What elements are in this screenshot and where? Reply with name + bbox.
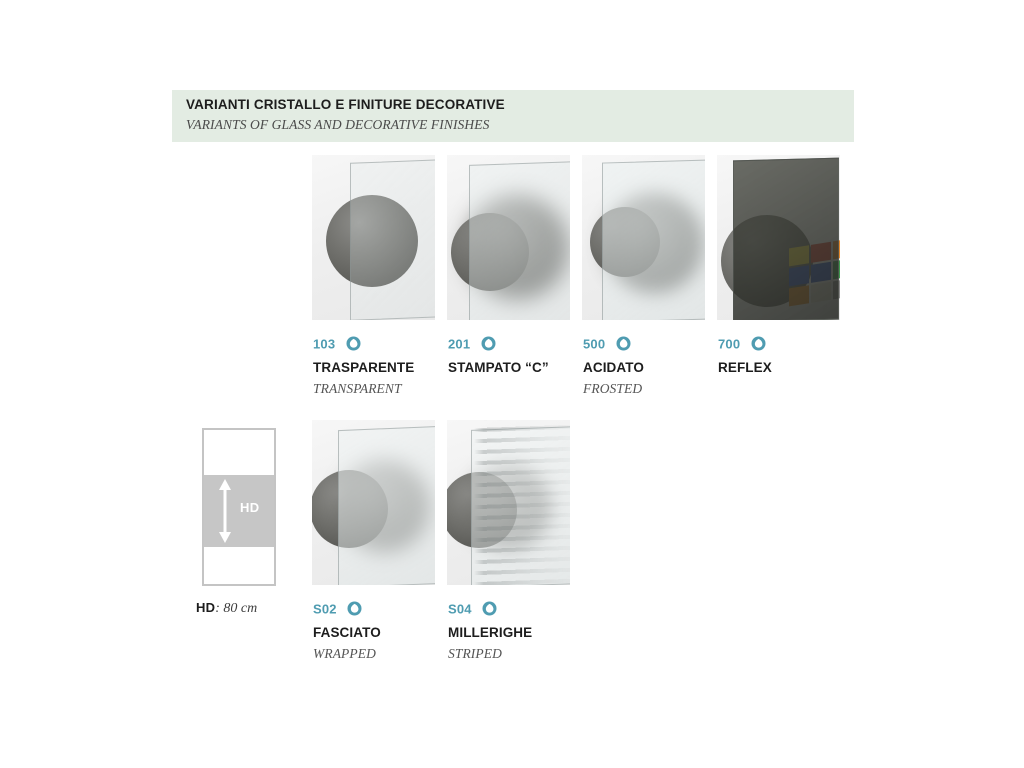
- hd-band: HD: [204, 475, 274, 547]
- sample-name-en: STRIPED: [448, 646, 502, 662]
- sample-code: S02: [313, 601, 337, 616]
- glass-transparent-sample: [312, 155, 435, 320]
- page-subtitle: VARIANTS OF GLASS AND DECORATIVE FINISHE…: [186, 117, 489, 133]
- hd-caption: HD: 80 cm: [196, 600, 257, 617]
- sample-name-en: WRAPPED: [313, 646, 376, 662]
- finish-swatch-icon: [616, 336, 631, 351]
- double-arrow-icon: [217, 479, 233, 543]
- glass-stampato-c-sample: [447, 155, 570, 320]
- sample-code: 201: [448, 336, 470, 351]
- glass-reflex-sample: [717, 155, 840, 320]
- sample-name: TRASPARENTE: [313, 360, 414, 375]
- finish-swatch-icon: [751, 336, 766, 351]
- glass-fasciato-sample: [312, 420, 435, 585]
- sample-code: 500: [583, 336, 605, 351]
- sample-code-row: 201: [448, 335, 496, 353]
- sample-name: FASCIATO: [313, 625, 381, 640]
- sample-name: STAMPATO “C”: [448, 360, 549, 375]
- sample-code: S04: [448, 601, 472, 616]
- glass-millerighe-sample: [447, 420, 570, 585]
- sample-code: 700: [718, 336, 740, 351]
- finish-swatch-icon: [482, 601, 497, 616]
- hd-caption-value: : 80 cm: [215, 601, 257, 616]
- sample-name: ACIDATO: [583, 360, 644, 375]
- finish-swatch-icon: [346, 336, 361, 351]
- sample-name: MILLERIGHE: [448, 625, 532, 640]
- hd-dimension-diagram: HD: [202, 428, 276, 586]
- sample-code-row: 103: [313, 335, 361, 353]
- sample-name-en: FROSTED: [583, 381, 642, 397]
- sample-code-row: S02: [313, 600, 362, 618]
- sample-name-en: TRANSPARENT: [313, 381, 402, 397]
- sample-code-row: 500: [583, 335, 631, 353]
- page-title: VARIANTI CRISTALLO E FINITURE DECORATIVE: [186, 97, 505, 112]
- sample-code-row: 700: [718, 335, 766, 353]
- sample-name: REFLEX: [718, 360, 772, 375]
- hd-band-label: HD: [240, 500, 260, 515]
- finish-swatch-icon: [481, 336, 496, 351]
- glass-acidato-sample: [582, 155, 705, 320]
- sample-code: 103: [313, 336, 335, 351]
- section-header-band: VARIANTI CRISTALLO E FINITURE DECORATIVE…: [172, 90, 854, 142]
- hd-caption-key: HD: [196, 600, 215, 615]
- sample-code-row: S04: [448, 600, 497, 618]
- finish-swatch-icon: [347, 601, 362, 616]
